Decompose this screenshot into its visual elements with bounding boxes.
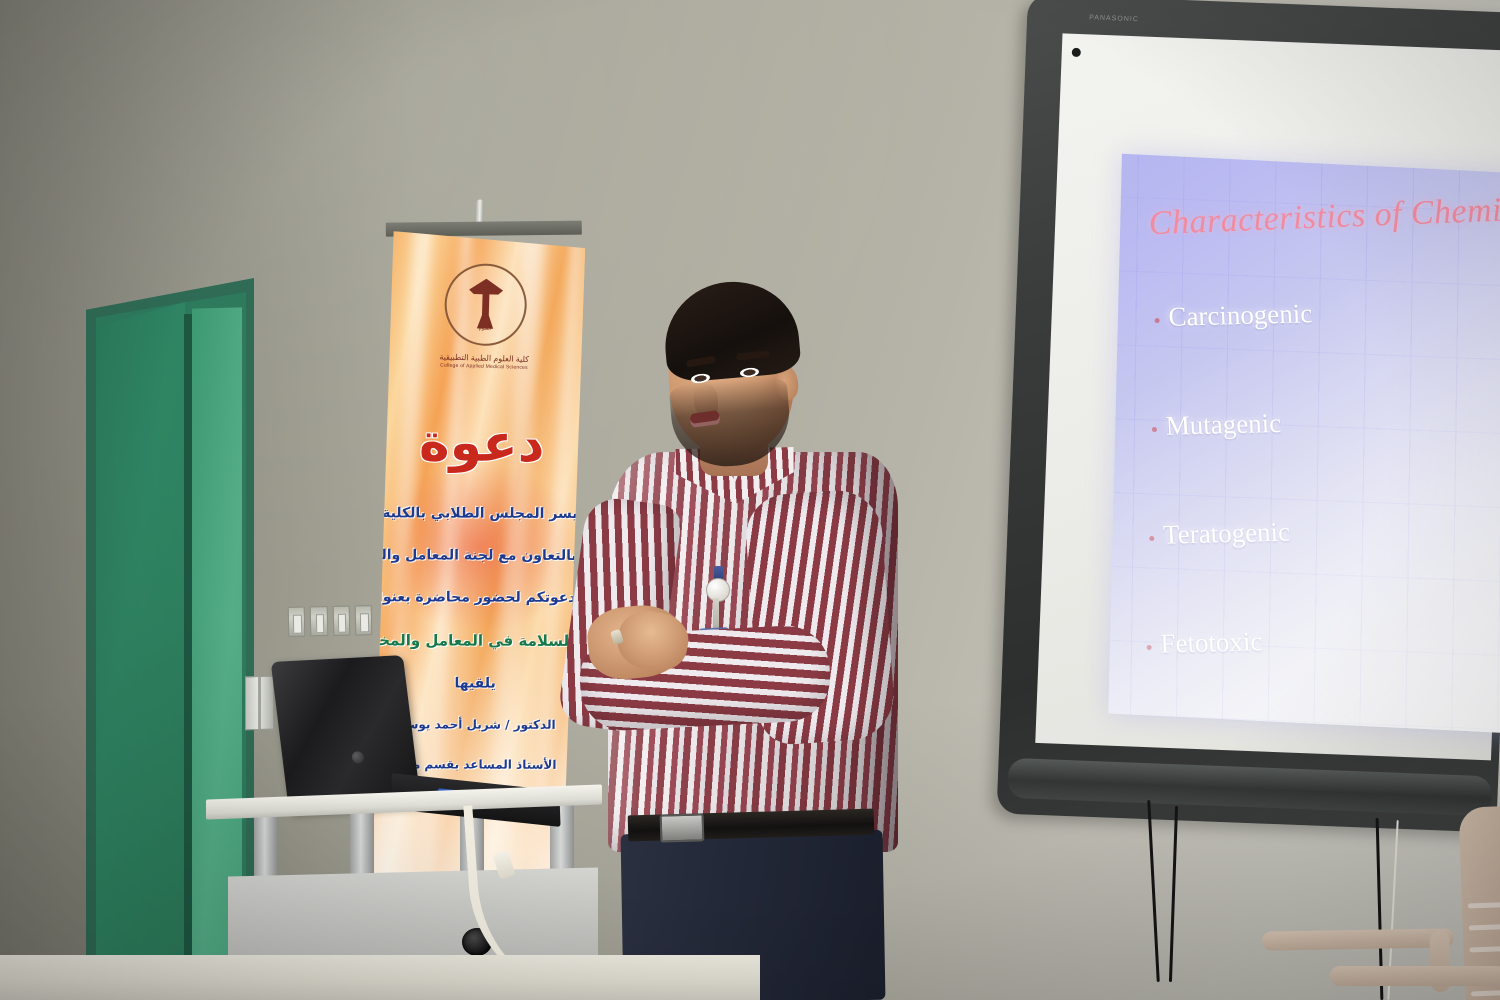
slide-bullet-item: Carcinogenic: [1154, 292, 1500, 333]
podium-cable-port-icon: [462, 928, 492, 956]
wall-switch-2[interactable]: [310, 606, 328, 636]
banner-line: السلامة في المعامل والمختبرات: [378, 631, 574, 650]
college-logo-icon: العلوم: [444, 263, 528, 347]
door-leaf[interactable]: [96, 302, 185, 1000]
projected-slide: Characteristics of Chemic Carcinogenic M…: [1108, 154, 1500, 736]
whiteboard-surface[interactable]: Characteristics of Chemic Carcinogenic M…: [1035, 33, 1500, 760]
banner-line: بالتعاون مع لجنة المعامل والمختبرات: [381, 547, 577, 564]
logo-mark-icon: [468, 278, 503, 331]
office-chair-armrest-upper[interactable]: [1262, 928, 1454, 950]
office-chair-armrest-lower[interactable]: [1330, 966, 1500, 986]
banner-line: يسر المجلس الطلابي بالكلية: [382, 505, 578, 522]
wall-switch-4[interactable]: [354, 605, 372, 635]
slide-bullet-item: Mutagenic: [1151, 401, 1500, 442]
banner-line: دعوتكم لحضور محاضرة بعنوان: [379, 589, 575, 606]
slide-bullet-item: Fetotoxic: [1146, 619, 1500, 660]
presenter-belt-buckle: [660, 813, 705, 842]
desk-surface: [0, 955, 760, 1000]
wall-switch-1[interactable]: [288, 607, 306, 637]
lecture-room-photo: العلوم كلية العلوم الطبية التطبيقية Coll…: [0, 0, 1500, 1000]
logo-inner-caption: العلوم: [479, 326, 492, 332]
interactive-whiteboard[interactable]: PANASONIC Characteristics of Chemic Carc…: [997, 0, 1500, 833]
slide-bullet-list: Carcinogenic Mutagenic Teratogenic Fetot…: [1144, 287, 1500, 735]
slide-bullet-item: Teratogenic: [1148, 510, 1500, 551]
banner-headline: دعوة: [419, 413, 545, 474]
wall-switch-plates[interactable]: [288, 605, 373, 637]
door-hinge-upper: [245, 676, 274, 731]
wall-switch-3[interactable]: [332, 606, 350, 636]
banner-logo-caption: كلية العلوم الطبية التطبيقية College of …: [439, 352, 529, 371]
